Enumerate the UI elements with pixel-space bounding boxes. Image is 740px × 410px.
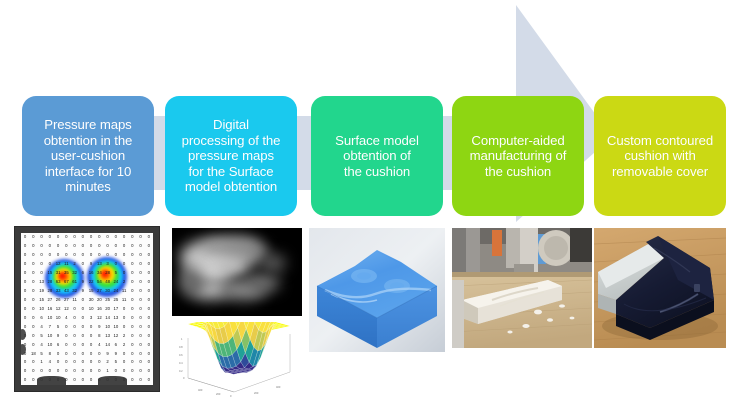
step-label-1: Pressure maps obtention in the user-cush… xyxy=(44,117,133,195)
pressure-cell: 0 xyxy=(29,313,37,322)
pressure-cell: 13 xyxy=(95,260,103,269)
pressure-cell: 33 xyxy=(54,287,62,296)
pressure-cell: 0 xyxy=(145,349,153,358)
pressure-cell: 30 xyxy=(104,287,112,296)
pressure-cell: 0 xyxy=(29,305,37,314)
pressure-cell: 0 xyxy=(62,340,70,349)
pressure-cell: 0 xyxy=(137,331,145,340)
pressure-cell: 0 xyxy=(128,287,136,296)
pressure-cell: 25 xyxy=(104,296,112,305)
pressure-cell: 0 xyxy=(104,251,112,260)
pressure-cell: 0 xyxy=(112,367,120,376)
pressure-cell: 0 xyxy=(87,349,95,358)
pressure-cell: 0 xyxy=(79,251,87,260)
pressure-cell: 2 xyxy=(120,340,128,349)
pressure-cell: 0 xyxy=(145,278,153,287)
pressure-cell: 0 xyxy=(62,251,70,260)
pressure-cell: 0 xyxy=(128,251,136,260)
pressure-cell: 28 xyxy=(46,287,54,296)
svg-text:0.2: 0.2 xyxy=(179,369,183,373)
pressure-cell: 0 xyxy=(137,305,145,314)
pressure-cell: 0 xyxy=(128,313,136,322)
pressure-cell: 0 xyxy=(145,296,153,305)
pressure-cell: 8 xyxy=(95,331,103,340)
pressure-cell: 16 xyxy=(46,305,54,314)
pressure-cell: 4 xyxy=(62,313,70,322)
pressure-cell: 0 xyxy=(79,313,87,322)
pressure-cell: 0 xyxy=(21,287,29,296)
pressure-cell: 0 xyxy=(87,242,95,251)
pressure-cell: 5 xyxy=(112,358,120,367)
pressure-cell: 0 xyxy=(71,376,79,385)
pressure-cell: 0 xyxy=(21,242,29,251)
surface-plot-svg: 1 0.8 0.6 0.4 0.2 0 400 200 0 200 400 xyxy=(172,322,302,398)
pressure-cell: 0 xyxy=(128,376,136,385)
pressure-cell: 0 xyxy=(21,313,29,322)
pressure-cell: 11 xyxy=(62,260,70,269)
cnc-machining-photo-panel xyxy=(452,228,592,348)
pressure-cell: 0 xyxy=(29,367,37,376)
pressure-cell: 0 xyxy=(137,358,145,367)
cnc-photo-svg xyxy=(452,228,592,348)
pressure-cell: 0 xyxy=(62,367,70,376)
pressure-cell: 0 xyxy=(21,251,29,260)
pressure-cell: 13 xyxy=(104,331,112,340)
pressure-cell: 0 xyxy=(128,331,136,340)
pressure-cell: 15 xyxy=(38,296,46,305)
step-label-4: Computer-aided manufacturing of the cush… xyxy=(470,133,567,180)
pressure-cell: 12 xyxy=(62,305,70,314)
pressure-cell: 0 xyxy=(38,242,46,251)
pressure-cell: 0 xyxy=(38,260,46,269)
pressure-cell: 0 xyxy=(71,349,79,358)
pressure-cell: 30 xyxy=(87,296,95,305)
pressure-cell: 20 xyxy=(104,305,112,314)
step-label-5: Custom contoured cushion with removable … xyxy=(607,133,713,180)
pressure-cell: 11 xyxy=(120,287,128,296)
pressure-cell: 2 xyxy=(120,331,128,340)
pressure-cell: 0 xyxy=(21,269,29,278)
pressure-cell: 0 xyxy=(120,260,128,269)
pressure-cell: 16 xyxy=(87,269,95,278)
pressure-cell: 0 xyxy=(29,242,37,251)
pressure-cell: 0 xyxy=(71,233,79,242)
pressure-cell: 0 xyxy=(128,349,136,358)
pressure-cell: 22 xyxy=(87,278,95,287)
pressure-cell: 13 xyxy=(38,278,46,287)
pressure-cell: 0 xyxy=(145,322,153,331)
pressure-cell: 0 xyxy=(128,322,136,331)
pressure-cell: 0 xyxy=(120,367,128,376)
pressure-cell: 0 xyxy=(79,358,87,367)
step-box-1[interactable]: Pressure maps obtention in the user-cush… xyxy=(22,96,154,216)
pressure-cell: 0 xyxy=(79,233,87,242)
pressure-cell: 0 xyxy=(137,322,145,331)
pressure-cell: 0 xyxy=(21,305,29,314)
pressure-cell: 0 xyxy=(137,376,145,385)
pressure-value-grid: 0000000000000000000000000000000000000000… xyxy=(21,233,153,385)
pressure-cell: 0 xyxy=(112,242,120,251)
pressure-cell: 0 xyxy=(46,260,54,269)
pressure-cell: 1 xyxy=(104,367,112,376)
pressure-cell: 0 xyxy=(54,251,62,260)
pressure-cell: 0 xyxy=(79,340,87,349)
pressure-cell: 0 xyxy=(38,251,46,260)
pressure-cell: 0 xyxy=(71,251,79,260)
pressure-cell: 0 xyxy=(145,358,153,367)
pressure-cell: 0 xyxy=(120,349,128,358)
pressure-cell: 0 xyxy=(137,340,145,349)
pressure-cell: 0 xyxy=(54,349,62,358)
pressure-cell: 0 xyxy=(128,296,136,305)
pressure-cell: 1 xyxy=(38,358,46,367)
pressure-cell: 5 xyxy=(38,331,46,340)
pressure-cell: 0 xyxy=(145,287,153,296)
pressure-cell: 0 xyxy=(79,260,87,269)
pressure-cell: 0 xyxy=(29,331,37,340)
pressure-cell: 0 xyxy=(29,340,37,349)
pressure-cell: 10 xyxy=(104,322,112,331)
step-box-2[interactable]: Digital processing of the pressure maps … xyxy=(165,96,297,216)
pressure-cell: 10 xyxy=(87,305,95,314)
pressure-cell: 20 xyxy=(95,296,103,305)
step-row: Pressure maps obtention in the user-cush… xyxy=(0,96,740,216)
pressure-cell: 10 xyxy=(54,313,62,322)
pressure-cell: 5 xyxy=(112,269,120,278)
panel-row: 0000000000000000000000000000000000000000… xyxy=(0,226,740,398)
pressure-cell: 0 xyxy=(29,358,37,367)
pressure-cell: 6 xyxy=(54,340,62,349)
pressure-cell: 0 xyxy=(104,233,112,242)
pressure-cell: 0 xyxy=(79,305,87,314)
pressure-cell: 7 xyxy=(46,322,54,331)
pressure-cell: 0 xyxy=(79,367,87,376)
pressure-cell: 12 xyxy=(54,305,62,314)
pressure-cell: 0 xyxy=(87,331,95,340)
pressure-cell: 5 xyxy=(54,322,62,331)
pressure-cell: 0 xyxy=(71,331,79,340)
pressure-cell: 54 xyxy=(95,278,103,287)
pressure-cell: 4 xyxy=(95,340,103,349)
pressure-cell: 3 xyxy=(87,313,95,322)
pressure-cell: 9 xyxy=(95,322,103,331)
pressure-cell: 0 xyxy=(145,260,153,269)
pressure-cell: 0 xyxy=(128,367,136,376)
svg-text:200: 200 xyxy=(216,392,221,396)
pressure-cell: 0 xyxy=(62,331,70,340)
pressure-cell: 24 xyxy=(112,278,120,287)
pressure-cell: 0 xyxy=(87,358,95,367)
pressure-cell: 0 xyxy=(54,233,62,242)
pressure-cell: 0 xyxy=(62,349,70,358)
surface-plot-3d-panel: 1 0.8 0.6 0.4 0.2 0 400 200 0 200 400 xyxy=(172,322,302,398)
pressure-cell: 0 xyxy=(145,242,153,251)
pressure-cell: 8 xyxy=(46,349,54,358)
pressure-cell: 0 xyxy=(128,340,136,349)
step-label-3: Surface model obtention of the cushion xyxy=(335,133,419,180)
pressure-cell: 26 xyxy=(54,296,62,305)
pressure-cell: 0 xyxy=(128,305,136,314)
pressure-cell: 0 xyxy=(145,367,153,376)
cushion-photo-svg xyxy=(594,228,726,348)
cad-model-svg xyxy=(309,228,445,352)
pressure-cell: 10 xyxy=(46,331,54,340)
pressure-cell: 15 xyxy=(87,287,95,296)
pressure-cell: 0 xyxy=(21,296,29,305)
pressure-cell: 0 xyxy=(120,242,128,251)
pressure-cell: 0 xyxy=(112,233,120,242)
pressure-cell: 0 xyxy=(54,242,62,251)
pressure-cell: 0 xyxy=(87,322,95,331)
pressure-cell: 0 xyxy=(46,233,54,242)
pressure-cell: 0 xyxy=(71,313,79,322)
pressure-cell: 0 xyxy=(128,242,136,251)
pressure-cell: 0 xyxy=(62,322,70,331)
pressure-cell: 0 xyxy=(79,296,87,305)
pressure-map-numeric-panel: 0000000000000000000000000000000000000000… xyxy=(14,226,160,392)
pressure-cell: 15 xyxy=(46,269,54,278)
pressure-cell: 0 xyxy=(137,233,145,242)
pressure-cell: 12 xyxy=(112,331,120,340)
pressure-cell: 11 xyxy=(120,296,128,305)
pressure-cell: 16 xyxy=(95,305,103,314)
pressure-cell: 0 xyxy=(95,367,103,376)
pressure-cell: 31 xyxy=(54,269,62,278)
pressure-cell: 0 xyxy=(120,251,128,260)
pressure-cell: 2 xyxy=(71,260,79,269)
pressure-cell: 0 xyxy=(87,340,95,349)
pressure-cell: 9 xyxy=(87,260,95,269)
pressure-cell: 24 xyxy=(112,287,120,296)
pressure-cell: 0 xyxy=(137,349,145,358)
pressure-cell: 0 xyxy=(120,305,128,314)
pressure-cell: 0 xyxy=(137,287,145,296)
pressure-cell: 6 xyxy=(79,269,87,278)
pressure-cell: 0 xyxy=(62,233,70,242)
svg-text:200: 200 xyxy=(254,391,259,395)
pressure-cell: 0 xyxy=(145,331,153,340)
pressure-cell: 0 xyxy=(62,358,70,367)
pressure-cell: 0 xyxy=(79,349,87,358)
pressure-cell: 32 xyxy=(71,287,79,296)
pressure-cell: 0 xyxy=(95,358,103,367)
pressure-cell: 0 xyxy=(71,305,79,314)
pressure-cell: 9 xyxy=(54,331,62,340)
pressure-cell: 0 xyxy=(71,358,79,367)
pressure-cell: 6 xyxy=(38,313,46,322)
pressure-cell: 0 xyxy=(29,322,37,331)
pressure-cell: 0 xyxy=(145,340,153,349)
pressure-cell: 0 xyxy=(29,260,37,269)
pressure-cell: 0 xyxy=(21,358,29,367)
pressure-cell: 0 xyxy=(95,242,103,251)
pressure-cell: 28 xyxy=(46,278,54,287)
pressure-cell: 17 xyxy=(112,305,120,314)
pressure-cell: 27 xyxy=(95,287,103,296)
pressure-cell: 9 xyxy=(104,349,112,358)
pressure-cell: 43 xyxy=(62,287,70,296)
pressure-cell: 12 xyxy=(54,260,62,269)
pressure-cell: 0 xyxy=(137,260,145,269)
pressure-cell: 0 xyxy=(145,233,153,242)
pressure-cell: 14 xyxy=(104,340,112,349)
figure-root: Pressure maps obtention in the user-cush… xyxy=(0,0,740,410)
pressure-cell: 0 xyxy=(145,313,153,322)
pressure-cell: 0 xyxy=(29,233,37,242)
pressure-cell: 27 xyxy=(62,296,70,305)
pressure-cell: 0 xyxy=(62,242,70,251)
pressure-cell: 0 xyxy=(145,269,153,278)
pressure-cell: 25 xyxy=(112,296,120,305)
pressure-cell: 12 xyxy=(95,313,103,322)
pressure-cell: 0 xyxy=(71,340,79,349)
pressure-cell: 0 xyxy=(128,260,136,269)
pressure-cell: 0 xyxy=(128,233,136,242)
pressure-cell: 9 xyxy=(112,349,120,358)
pressure-cell: 0 xyxy=(21,376,29,385)
pressure-cell: 27 xyxy=(46,296,54,305)
pressure-cell: 0 xyxy=(46,242,54,251)
pressure-cell: 0 xyxy=(71,242,79,251)
step-box-5[interactable]: Custom contoured cushion with removable … xyxy=(594,96,726,216)
pressure-cell: 0 xyxy=(54,367,62,376)
pressure-cell: 0 xyxy=(95,349,103,358)
pressure-cell: 0 xyxy=(120,322,128,331)
pressure-cell: 0 xyxy=(38,233,46,242)
pressure-cell: 0 xyxy=(137,296,145,305)
pressure-cell: 4 xyxy=(38,340,46,349)
pressure-cell: 0 xyxy=(120,233,128,242)
pressure-cell: 0 xyxy=(87,251,95,260)
pressure-cell: 0 xyxy=(29,287,37,296)
pressure-cell: 0 xyxy=(87,367,95,376)
pressure-cell: 0 xyxy=(120,269,128,278)
pressure-cell: 0 xyxy=(128,278,136,287)
pressure-map-grayscale-panel xyxy=(172,228,302,316)
pressure-cell: 0 xyxy=(71,322,79,331)
pressure-cell: 10 xyxy=(46,313,54,322)
pressure-cell: 6 xyxy=(112,340,120,349)
finished-cushion-photo-panel xyxy=(594,228,726,348)
step-box-4[interactable]: Computer-aided manufacturing of the cush… xyxy=(452,96,584,216)
pressure-cell: 0 xyxy=(120,313,128,322)
pressure-cell: 0 xyxy=(38,367,46,376)
pressure-cell: 0 xyxy=(112,260,120,269)
pressure-cell: 2 xyxy=(120,278,128,287)
step-box-3[interactable]: Surface model obtention of the cushion xyxy=(311,96,443,216)
svg-text:0.4: 0.4 xyxy=(179,361,183,365)
pressure-cell: 34 xyxy=(95,269,103,278)
svg-text:400: 400 xyxy=(198,388,203,392)
pressure-cell: 0 xyxy=(137,251,145,260)
pressure-cell: 0 xyxy=(145,376,153,385)
pressure-cell: 5 xyxy=(38,349,46,358)
pressure-cell: 63 xyxy=(54,278,62,287)
pressure-cell: 2 xyxy=(104,358,112,367)
pressure-cell: 0 xyxy=(29,296,37,305)
pressure-cell: 11 xyxy=(71,296,79,305)
pressure-cell: 0 xyxy=(46,251,54,260)
step-label-2: Digital processing of the pressure maps … xyxy=(182,117,281,195)
pressure-cell: 35 xyxy=(62,269,70,278)
pressure-cell: 0 xyxy=(95,251,103,260)
pressure-cell: 0 xyxy=(137,313,145,322)
pressure-cell: 4 xyxy=(46,358,54,367)
pressure-cell: 48 xyxy=(104,278,112,287)
pressure-cell: 0 xyxy=(104,242,112,251)
pressure-cell: 0 xyxy=(38,269,46,278)
pressure-cell: 0 xyxy=(137,278,145,287)
pressure-cell: 0 xyxy=(79,331,87,340)
svg-text:0.6: 0.6 xyxy=(179,353,183,357)
pressure-cell: 0 xyxy=(87,233,95,242)
pressure-cell: 67 xyxy=(62,278,70,287)
pressure-cell: 0 xyxy=(71,367,79,376)
pressure-cell: 0 xyxy=(120,358,128,367)
pressure-cell: 0 xyxy=(145,305,153,314)
pressure-cell: 0 xyxy=(79,322,87,331)
pressure-cell: 9 xyxy=(79,278,87,287)
pressure-cell: 61 xyxy=(71,278,79,287)
pressure-cell: 0 xyxy=(54,358,62,367)
pressure-cell: 18 xyxy=(29,349,37,358)
pressure-cell: 10 xyxy=(46,340,54,349)
pressure-cell: 13 xyxy=(112,313,120,322)
pressure-cell: 0 xyxy=(145,251,153,260)
pressure-cell: 0 xyxy=(128,269,136,278)
pressure-cell: 0 xyxy=(29,269,37,278)
pressure-cell: 0 xyxy=(128,358,136,367)
pressure-cell: 10 xyxy=(38,305,46,314)
pressure-cell: 0 xyxy=(137,269,145,278)
pressure-cell: 0 xyxy=(29,251,37,260)
pressure-cell: 0 xyxy=(112,251,120,260)
pressure-cell: 14 xyxy=(104,313,112,322)
pressure-cell: 0 xyxy=(95,233,103,242)
pressure-cell: 0 xyxy=(79,242,87,251)
pressure-cell: 0 xyxy=(87,376,95,385)
svg-text:0.8: 0.8 xyxy=(179,345,183,349)
pressure-cell: 0 xyxy=(79,376,87,385)
pressure-cell: 0 xyxy=(137,367,145,376)
svg-text:400: 400 xyxy=(276,385,281,389)
pressure-cell: 28 xyxy=(104,269,112,278)
pressure-cell: 0 xyxy=(46,367,54,376)
pressure-cell: 0 xyxy=(21,367,29,376)
pressure-cell: 4 xyxy=(38,322,46,331)
pressure-cell: 0 xyxy=(21,260,29,269)
pressure-cell: 0 xyxy=(29,278,37,287)
pressure-cell: 9 xyxy=(79,287,87,296)
cad-surface-model-panel xyxy=(309,228,445,352)
pressure-cell: 19 xyxy=(38,287,46,296)
pressure-cell: 0 xyxy=(137,242,145,251)
pressure-cell: 0 xyxy=(21,278,29,287)
pressure-cell: 3 xyxy=(104,260,112,269)
pressure-cell: 0 xyxy=(21,233,29,242)
pressure-cell: 32 xyxy=(71,269,79,278)
pressure-cell: 10 xyxy=(112,322,120,331)
